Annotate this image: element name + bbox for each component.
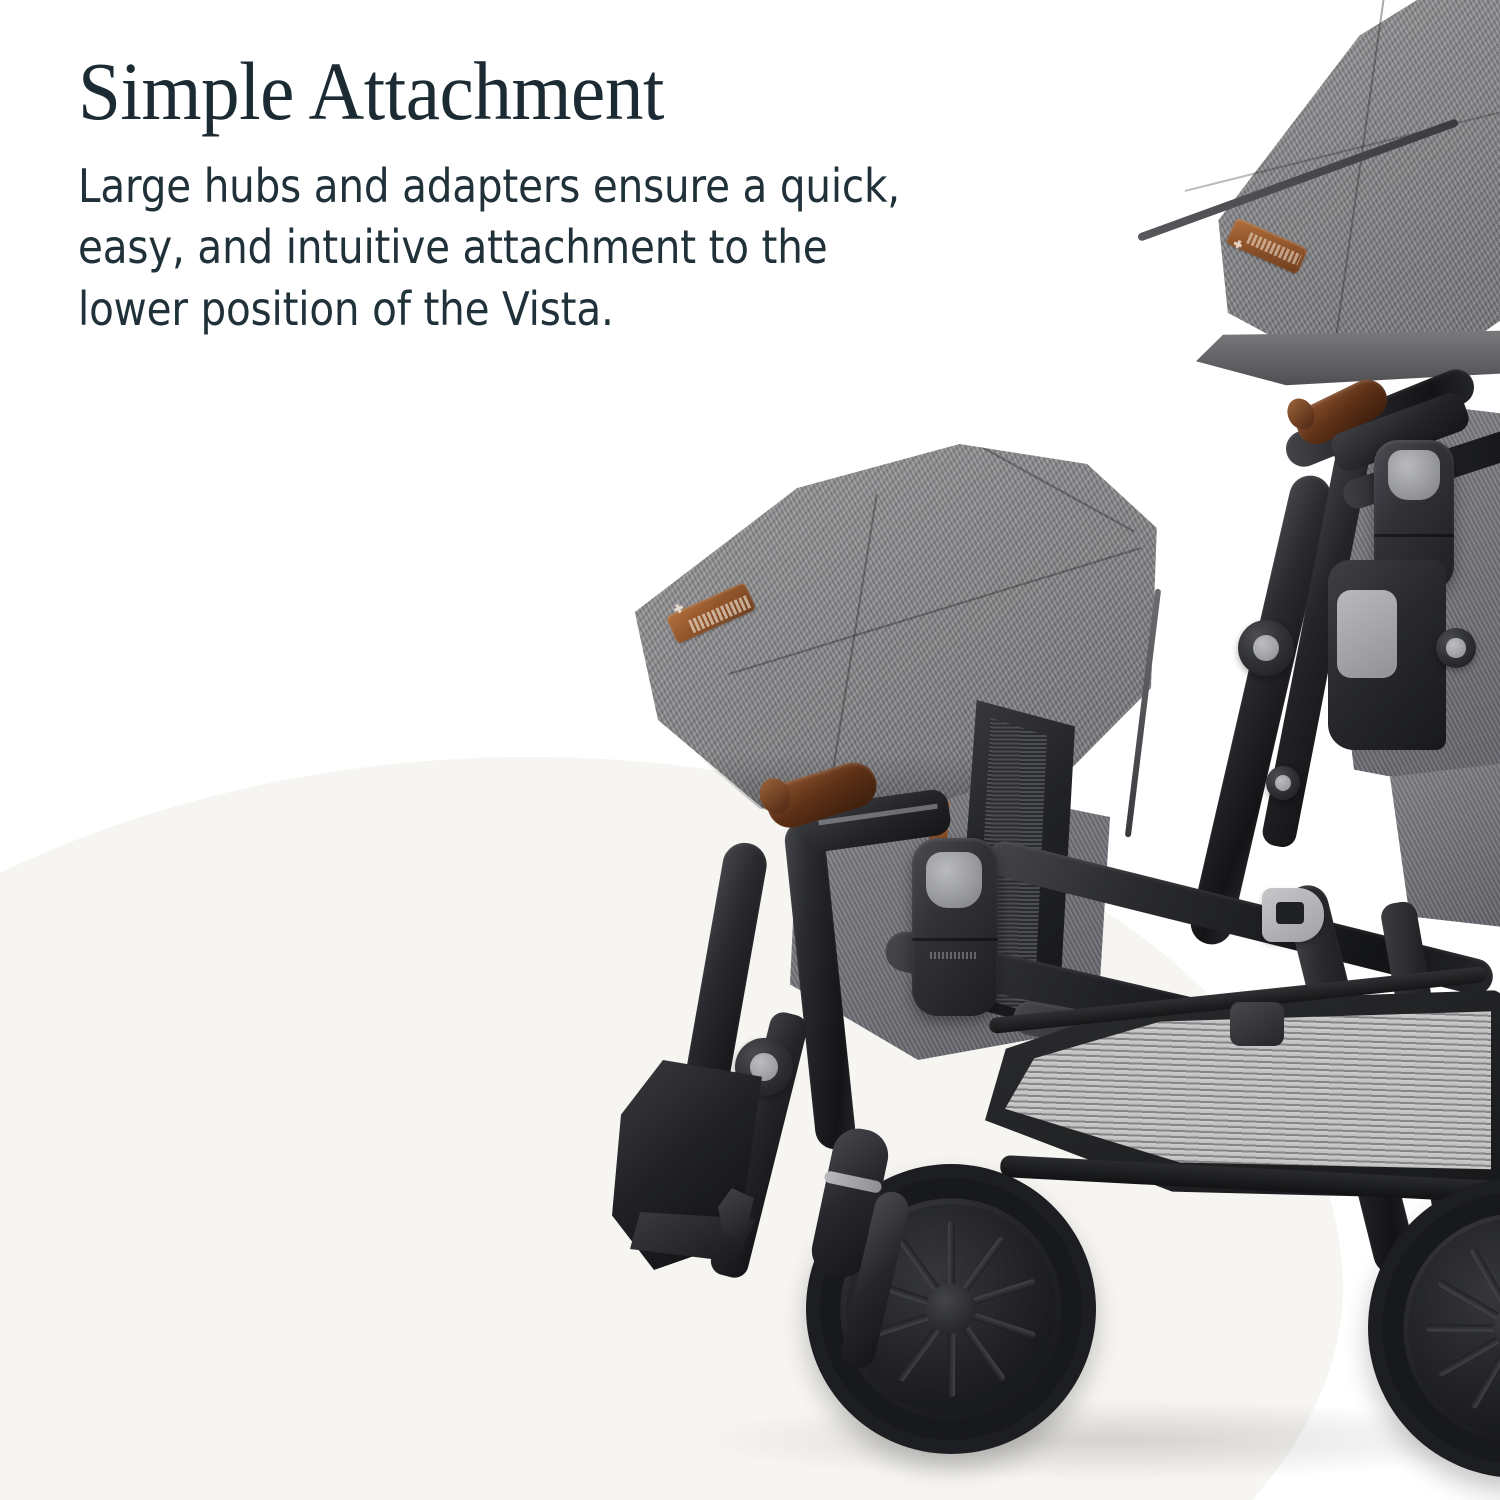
- basket-trim-bottom: [1000, 1155, 1500, 1203]
- rear-hub-notch: [1337, 590, 1397, 678]
- rear-hub-body: [1328, 560, 1446, 750]
- wheel-spoke: [866, 1278, 952, 1312]
- front-wheel-fork-ring: [823, 1170, 882, 1194]
- handlebar-ring-front: [818, 804, 938, 826]
- rear-wheel-rim: [1408, 1218, 1500, 1438]
- footrest-hook: [718, 1188, 754, 1244]
- rear-seat-fabric: [1330, 400, 1500, 820]
- wheel-spoke: [1469, 1247, 1500, 1330]
- frame-tube-handlebar: [1281, 364, 1480, 472]
- frame-tube-front-leg: [654, 839, 770, 1260]
- brake-lever: [1262, 888, 1324, 942]
- rear-canopy-seam: [1335, 0, 1387, 338]
- front-canopy-seam: [729, 547, 1141, 675]
- front-seat-fabric: [790, 790, 1110, 1060]
- body-copy: Large hubs and adapters ensure a quick, …: [78, 156, 923, 340]
- front-canopy: [600, 440, 1180, 840]
- product-alt-text: UPPAbaby stroller with RumbleSeat attach…: [0, 0, 1, 1]
- frame-tube-rear-lower: [1282, 881, 1420, 1279]
- wheel-spoke: [950, 1306, 1036, 1340]
- pivot-button-rear-hub: [1436, 628, 1476, 668]
- frame-tube-handlebar-2: [1340, 428, 1500, 512]
- handlebar-bar-front: [798, 788, 953, 854]
- front-canopy-zipper: [1125, 589, 1161, 838]
- front-wheel-rim: [846, 1204, 1056, 1414]
- wheel-spoke: [948, 1309, 955, 1397]
- basket-trim-top: [989, 966, 1488, 1034]
- frame-tube-rear-lower-2: [1379, 900, 1477, 1261]
- brand-logo-icon: [673, 603, 685, 615]
- wheel-spoke: [1469, 1326, 1500, 1409]
- front-wheel: [806, 1164, 1096, 1454]
- rear-canopy-seam: [1185, 110, 1500, 192]
- brand-tag: [666, 582, 757, 644]
- text-block: Simple Attachment Large hubs and adapter…: [78, 48, 1078, 340]
- rear-seat-fabric-lower: [1390, 760, 1500, 930]
- under-seat-basket: [985, 990, 1500, 1200]
- basket-clip: [1230, 1002, 1284, 1046]
- brake-lever-slot: [1276, 902, 1304, 924]
- front-seat-mesh-vent: [975, 718, 1047, 1014]
- frame-tube-diagonal-upper: [983, 838, 1496, 999]
- front-canopy-seam: [824, 494, 878, 820]
- rear-hub-seam: [1374, 534, 1454, 537]
- brand-logo-icon: [1233, 239, 1244, 250]
- handlebar-grip-front: [762, 757, 883, 834]
- front-wheel-hubcap: [926, 1284, 976, 1334]
- product-feature-card: Simple Attachment Large hubs and adapter…: [0, 0, 1500, 1500]
- footrest-plate: [630, 1212, 756, 1262]
- frame-tube-front-upper: [783, 819, 857, 1151]
- pivot-button-footrest: [735, 1038, 793, 1096]
- brand-tag-text: [688, 595, 752, 634]
- front-canopy-rim: [600, 448, 1170, 840]
- pivot-button-rear-frame: [1238, 620, 1294, 676]
- rear-canopy: [1115, 0, 1500, 380]
- frame-tube-crossbar: [1011, 999, 1490, 1116]
- wheel-spoke: [866, 1306, 952, 1340]
- front-hub-adapter: [912, 838, 998, 1016]
- hub-strap-clip: [933, 796, 945, 810]
- frame-tube-diagonal-lower: [882, 928, 1349, 1073]
- rear-canopy-edge: [1137, 118, 1459, 242]
- page-title: Simple Attachment: [78, 48, 1008, 134]
- handlebar-grip-rear: [1290, 373, 1394, 451]
- ground-shadow: [700, 1400, 1500, 1480]
- wheel-spoke: [1426, 1325, 1500, 1332]
- front-hub-release-button: [926, 852, 982, 908]
- brand-tag-text: [1246, 232, 1302, 266]
- frame-tube-rear-upper: [1187, 471, 1336, 948]
- basket-mesh-panel: [1005, 1008, 1491, 1176]
- handlebar-bar-rear: [1327, 389, 1472, 474]
- decorative-cream-blob: [0, 685, 1382, 1500]
- rear-wheel-hubcap: [1494, 1304, 1500, 1352]
- front-seat-back: [955, 700, 1075, 1030]
- brand-tag: [1226, 217, 1309, 274]
- rear-canopy-rim: [1115, 330, 1500, 390]
- rear-hub: [1374, 440, 1454, 590]
- hub-leather-strap: [928, 799, 950, 858]
- front-canopy-seam: [915, 410, 1135, 533]
- wheel-spoke: [950, 1278, 1036, 1312]
- wheel-spoke: [948, 1307, 1005, 1382]
- pivot-button-lower-frame: [1266, 766, 1300, 800]
- frame-tube-front-leg-2: [708, 1009, 810, 1280]
- footrest: [612, 1060, 762, 1270]
- rear-hub-release-button: [1388, 450, 1440, 500]
- front-hub-label: [930, 952, 978, 959]
- frame-tube-rear-upper-2: [1260, 431, 1374, 850]
- wheel-spoke: [1437, 1279, 1500, 1331]
- wheel-spoke: [1437, 1325, 1500, 1377]
- wheel-spoke: [948, 1236, 1005, 1311]
- wheel-spoke: [896, 1307, 953, 1382]
- rear-wheel: [1368, 1178, 1500, 1478]
- front-wheel-fork-arm: [838, 1188, 912, 1371]
- wheel-spoke: [896, 1236, 953, 1311]
- handlebar-grip-cap-rear: [1282, 394, 1319, 434]
- wheel-spoke: [948, 1221, 955, 1309]
- front-hub-seam: [912, 938, 998, 941]
- front-wheel-fork: [807, 1124, 893, 1282]
- handlebar-grip-cap-front: [755, 774, 794, 817]
